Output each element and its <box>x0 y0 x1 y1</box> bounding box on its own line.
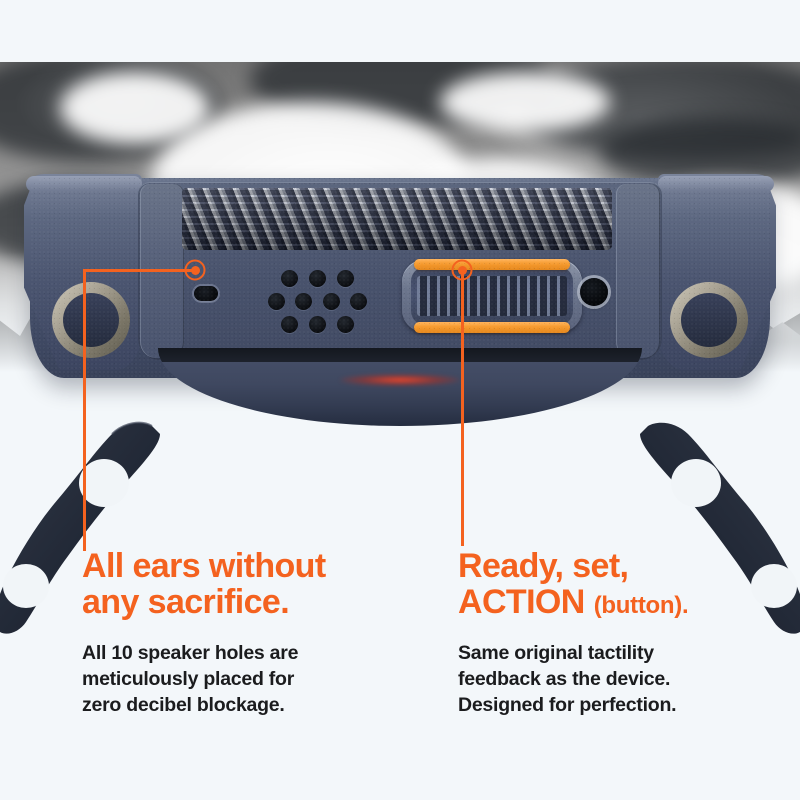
speaker-grille <box>268 270 368 334</box>
body-line: meticulously placed for <box>82 666 382 692</box>
round-port <box>580 278 608 306</box>
headline-line: Ready, set, <box>458 547 628 585</box>
side-rail-left <box>140 184 184 358</box>
body-line: Same original tactility <box>458 640 768 666</box>
lanyard-ring-right <box>670 282 748 358</box>
callout-text-action-button: Ready, set, ACTION(button). Same origina… <box>458 548 768 718</box>
headline-line-with-note: ACTION(button). <box>458 583 688 621</box>
marketing-stage: All ears without any sacrifice. All 10 s… <box>0 0 800 800</box>
case-lip <box>158 348 642 362</box>
action-button[interactable] <box>402 260 582 332</box>
body-line: All 10 speaker holes are <box>82 640 382 666</box>
action-accent-bar-bottom <box>414 322 570 333</box>
lanyard-ring-left <box>52 282 130 358</box>
headline-line: All ears without <box>82 547 326 585</box>
headline-speaker: All ears without any sacrifice. <box>82 548 382 620</box>
body-line: Designed for perfection. <box>458 692 768 718</box>
callout-text-speaker: All ears without any sacrifice. All 10 s… <box>82 548 382 718</box>
body-line: feedback as the device. <box>458 666 768 692</box>
bumper-edge-left <box>26 176 142 192</box>
action-button-ribs <box>417 276 567 316</box>
body-action-button: Same original tactility feedback as the … <box>458 640 768 718</box>
headline-word-action: ACTION <box>458 583 585 621</box>
microphone-port <box>194 286 218 301</box>
carbon-fiber-band <box>182 188 612 250</box>
bumper-edge-right <box>658 176 774 192</box>
body-line: zero decibel blockage. <box>82 692 382 718</box>
side-rail-right <box>616 184 660 358</box>
headline-note-button: (button). <box>594 592 689 619</box>
headline-action-button: Ready, set, ACTION(button). <box>458 548 768 620</box>
body-speaker: All 10 speaker holes are meticulously pl… <box>82 640 382 718</box>
case-belly <box>158 348 642 426</box>
case-shell <box>30 178 770 390</box>
product-case <box>0 150 800 460</box>
headline-line: any sacrifice. <box>82 583 289 621</box>
action-accent-bar-top <box>414 259 570 270</box>
lens-glow <box>340 374 460 386</box>
action-button-inner <box>411 267 573 325</box>
